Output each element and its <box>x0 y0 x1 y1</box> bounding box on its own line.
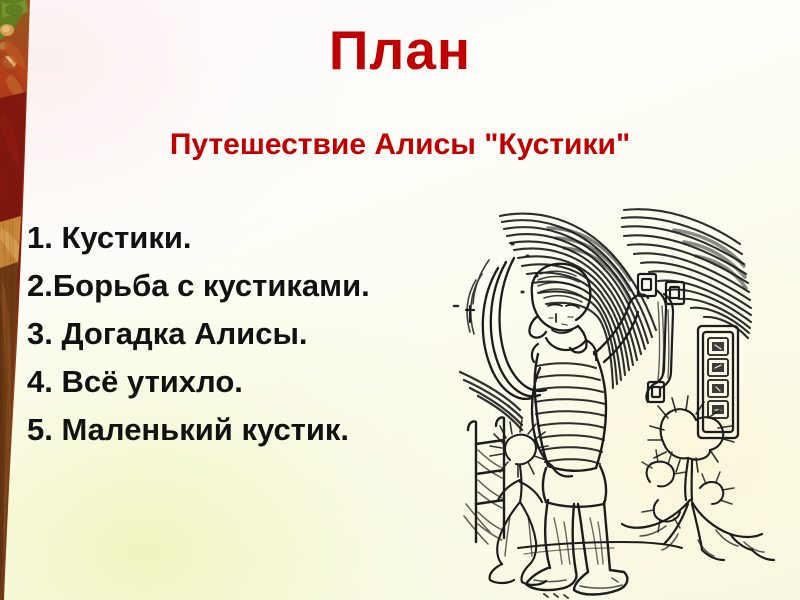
list-item: 1. Кустики. <box>27 214 497 262</box>
list-item: 5. Маленький кустик. <box>27 406 497 454</box>
slide-title: План <box>0 22 800 80</box>
list-item: 2.Борьба с кустиками. <box>27 262 497 310</box>
alice-and-bushes-ink-drawing <box>452 182 800 600</box>
slide-subtitle: Путешествие Алисы "Кустики" <box>0 128 800 161</box>
plan-list: 1. Кустики. 2.Борьба с кустиками. 3. Дог… <box>27 214 497 454</box>
list-item: 3. Догадка Алисы. <box>27 310 497 358</box>
list-item: 4. Всё утихло. <box>27 358 497 406</box>
slide-canvas: План Путешествие Алисы "Кустики" 1. Куст… <box>0 0 800 600</box>
